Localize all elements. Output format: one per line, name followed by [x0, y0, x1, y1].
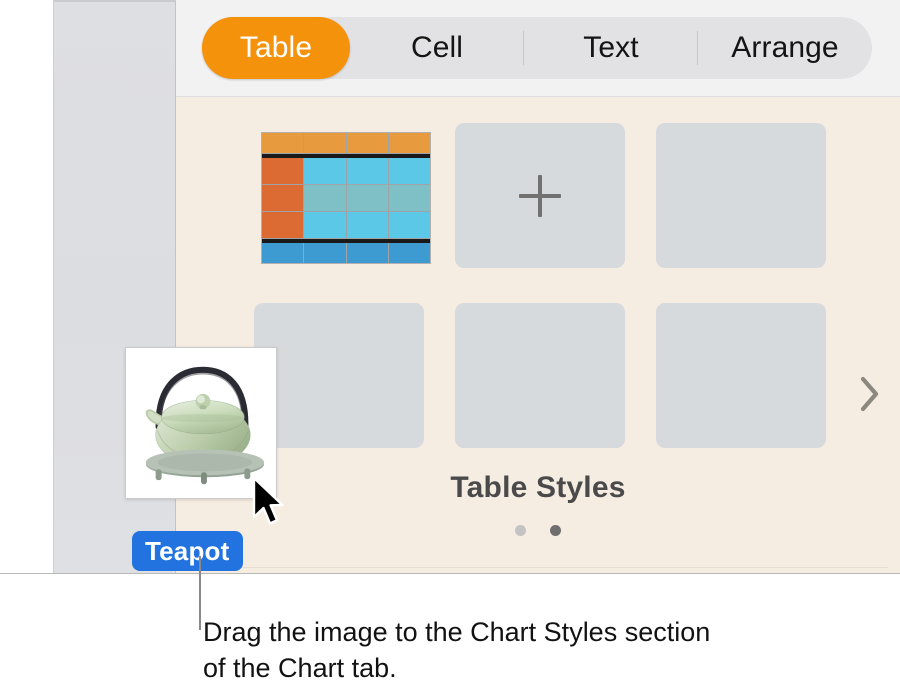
tab-arrange[interactable]: Arrange [698, 17, 872, 79]
pagination-dot-1[interactable] [515, 525, 526, 536]
caption-text: Drag the image to the Chart Styles secti… [203, 614, 723, 686]
tab-group[interactable]: Table Cell Text Arrange [202, 17, 872, 79]
table-style-preview [261, 132, 431, 264]
table-styles-grid [254, 123, 826, 448]
table-preview-header-row [262, 133, 430, 158]
teapot-photo [134, 356, 268, 490]
callout-line-upper [199, 556, 201, 574]
table-preview-body-row [262, 158, 430, 185]
tab-cell[interactable]: Cell [350, 17, 524, 79]
style-placeholder[interactable] [656, 123, 826, 268]
dragged-image-label-badge: Teapot [132, 531, 243, 571]
pagination-dot-2[interactable] [550, 525, 561, 536]
application-window: Table Cell Text Arrange [0, 0, 900, 574]
teapot-icon [134, 356, 268, 490]
panel-divider [188, 567, 888, 568]
tab-arrange-label: Arrange [731, 31, 838, 65]
table-style-thumbnail[interactable] [254, 123, 424, 268]
chevron-right-icon [857, 375, 881, 413]
style-placeholder[interactable] [254, 303, 424, 448]
plus-icon [519, 175, 561, 217]
table-preview-body-row [262, 185, 430, 212]
tab-text[interactable]: Text [524, 17, 698, 79]
style-placeholder[interactable] [455, 303, 625, 448]
canvas-top-edge [54, 0, 176, 2]
table-preview-footer-row [262, 239, 430, 263]
table-preview-body-row [262, 212, 430, 239]
add-style-button[interactable] [455, 123, 625, 268]
tab-table-label: Table [240, 31, 312, 65]
tab-cell-label: Cell [411, 31, 463, 65]
arrow-cursor-icon [252, 477, 286, 527]
dragged-image-label: Teapot [145, 536, 230, 567]
style-placeholder[interactable] [656, 303, 826, 448]
next-styles-page-button[interactable] [852, 373, 886, 415]
screenshot-root: Table Cell Text Arrange [0, 0, 900, 689]
tab-text-label: Text [583, 31, 638, 65]
callout-line [199, 574, 201, 630]
document-canvas-white [0, 0, 54, 573]
tab-table[interactable]: Table [202, 17, 350, 79]
inspector-tabbar: Table Cell Text Arrange [176, 0, 900, 97]
